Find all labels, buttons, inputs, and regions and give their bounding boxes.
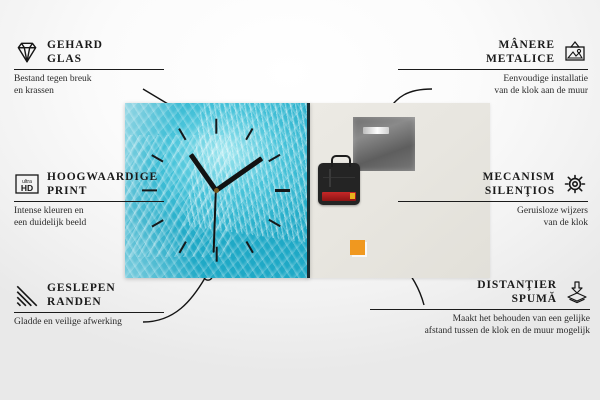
feature-desc-1: Gladde en veilige afwerking (14, 317, 164, 329)
feature-desc-1: Bestand tegen breuk (14, 74, 164, 86)
feature-desc-2: een duidelijk beeld (14, 218, 164, 230)
beveled-edges-icon (14, 283, 40, 307)
feature-desc-2: van de klok aan de muur (398, 86, 588, 98)
gear-icon (562, 172, 588, 196)
feature-title-2: METALICE (486, 52, 555, 66)
feature-mecanism-silentios: MECANISM SILENŢIOS Geruisloze wijzers va… (398, 170, 588, 229)
feature-desc-1: Eenvoudige installatie (398, 74, 588, 86)
feature-desc-1: Geruisloze wijzers (398, 206, 588, 218)
feature-desc-2: van de klok (398, 218, 588, 230)
feature-desc-1: Intense kleuren en (14, 206, 164, 218)
feature-desc-1: Maakt het behouden van een gelijke (370, 314, 590, 326)
diamond-icon (14, 40, 40, 64)
feature-gehard-glas: GEHARD GLAS Bestand tegen breuk en krass… (14, 38, 164, 97)
feature-title: GESLEPEN (47, 281, 116, 295)
picture-hanger-icon (562, 40, 588, 64)
feature-title: MECANISM (483, 170, 555, 184)
feature-title: HOOGWAARDIGE (47, 170, 158, 184)
hanger-loop-icon (331, 155, 351, 167)
clock-tick (245, 240, 254, 252)
feature-divider (14, 312, 164, 313)
clock-tick (215, 119, 217, 134)
feature-distantier-spuma: DISTANŢIER SPUMĂ Maakt het behouden van … (370, 278, 590, 337)
feature-title-2: SPUMĂ (477, 292, 557, 306)
foam-spacer (350, 240, 365, 255)
feature-geslepen-randen: GESLEPEN RANDEN Gladde en veilige afwerk… (14, 281, 164, 329)
infographic-canvas: GEHARD GLAS Bestand tegen breuk en krass… (0, 0, 600, 400)
feature-divider (398, 69, 588, 70)
arrow-layers-icon (564, 280, 590, 304)
ultra-hd-icon-bottom: HD (21, 183, 33, 193)
feature-hoogwaardige-print: ultra HD HOOGWAARDIGE PRINT Intense kleu… (14, 170, 164, 229)
feature-desc-2: afstand tussen de klok en de muur mogeli… (370, 326, 590, 338)
feature-title-2: SILENŢIOS (483, 184, 555, 198)
feature-desc-2: en krassen (14, 86, 164, 98)
battery (322, 192, 356, 201)
feature-title: DISTANŢIER (477, 278, 557, 292)
feature-divider (398, 201, 588, 202)
feature-title-2: PRINT (47, 184, 158, 198)
mechanism-detail (323, 169, 355, 187)
clock-tick (275, 189, 290, 191)
feature-divider (14, 69, 164, 70)
feature-manere-metalice: MÂNERE METALICE Eenvoudige installatie v… (398, 38, 588, 97)
clock-mechanism (318, 163, 360, 205)
clock-pivot (214, 188, 219, 193)
clock-tick (215, 247, 217, 262)
feature-divider (370, 309, 590, 310)
feature-title: GEHARD (47, 38, 103, 52)
feature-divider (14, 201, 164, 202)
feature-title: MÂNERE (486, 38, 555, 52)
metal-hanger (353, 117, 415, 171)
feature-title-2: RANDEN (47, 295, 116, 309)
ultra-hd-icon: ultra HD (14, 172, 40, 196)
feature-title-2: GLAS (47, 52, 103, 66)
